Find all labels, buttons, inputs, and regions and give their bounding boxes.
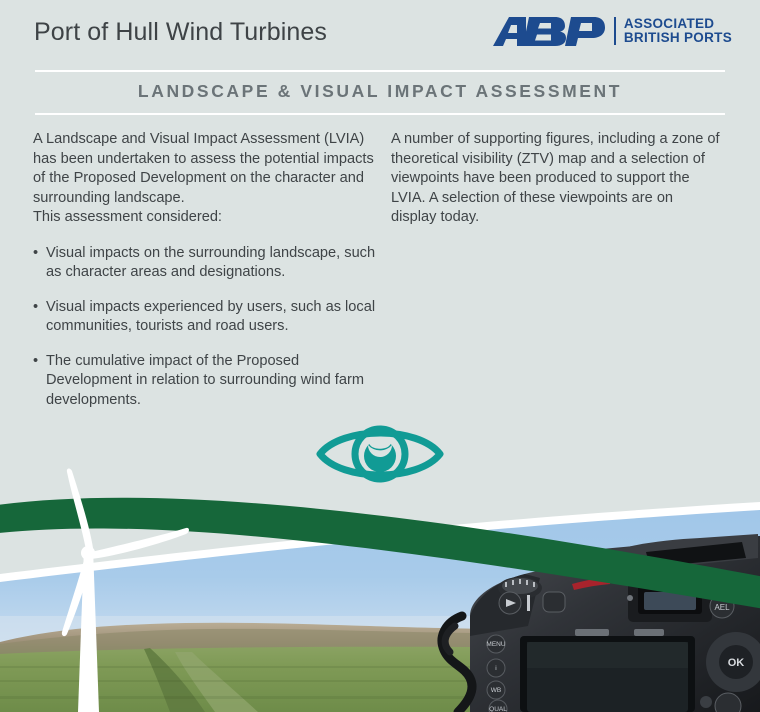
poster-board: Port of Hull Wind Turbines [0,0,760,712]
svg-text:WB: WB [491,687,501,694]
right-column: A number of supporting figures, includin… [391,130,721,228]
list-item-text: Visual impacts experienced by users, suc… [46,299,375,335]
list-item: • Visual impacts experienced by users, s… [33,298,378,337]
list-item-text: The cumulative impact of the Proposed De… [46,353,364,408]
svg-text:QUAL: QUAL [489,706,507,712]
logo-wordmark: ASSOCIATED BRITISH PORTS [624,17,732,45]
bullet-marker-icon: • [33,298,38,318]
page-title: Port of Hull Wind Turbines [34,18,327,47]
bullet-marker-icon: • [33,244,38,264]
left-column: A Landscape and Visual Impact Assessment… [33,130,378,410]
section-title: LANDSCAPE & VISUAL IMPACT ASSESSMENT [0,81,760,102]
intro-paragraph: A Landscape and Visual Impact Assessment… [33,130,378,208]
header: Port of Hull Wind Turbines [0,0,760,62]
list-item: • The cumulative impact of the Proposed … [33,352,378,411]
supporting-figures-paragraph: A number of supporting figures, includin… [391,130,721,228]
svg-text:OK: OK [728,657,745,669]
svg-text:AEL: AEL [714,603,730,612]
bullet-marker-icon: • [33,352,38,372]
list-item-text: Visual impacts on the surrounding landsc… [46,245,375,281]
svg-text:MENU: MENU [486,641,505,648]
divider-bottom [35,113,725,115]
bullet-list: • Visual impacts on the surrounding land… [33,244,378,411]
abp-logo: ASSOCIATED BRITISH PORTS [493,14,732,48]
abp-logo-mark [493,15,605,48]
divider-top [35,70,725,72]
bottom-artwork: MENU i WB QUAL OK [0,466,760,712]
logo-line-2: BRITISH PORTS [624,31,732,45]
logo-divider [614,17,616,45]
list-item: • Visual impacts on the surrounding land… [33,244,378,283]
logo-line-1: ASSOCIATED [624,17,732,31]
svg-text:i: i [495,665,496,672]
lead-in-text: This assessment considered: [33,208,378,228]
